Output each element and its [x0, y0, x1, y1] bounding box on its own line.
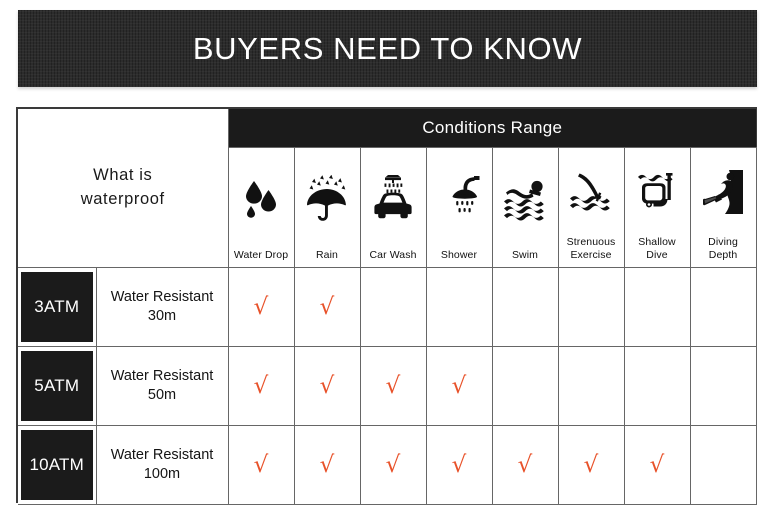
cell-3atm-car-wash [360, 268, 426, 347]
corner-label-line1: What is [93, 166, 152, 184]
column-label-car-wash: Car Wash [368, 247, 417, 262]
cell-3atm-shower [426, 268, 492, 347]
cell-10atm-swim: √ [492, 426, 558, 505]
rating-badge-cell-0: 3ATM [18, 268, 96, 347]
cell-3atm-rain: √ [294, 268, 360, 347]
rating-description-line2: 100m [144, 466, 180, 482]
cell-5atm-swim [492, 347, 558, 426]
cell-5atm-shower: √ [426, 347, 492, 426]
cell-3atm-swim [492, 268, 558, 347]
rating-description-line2: 50m [148, 387, 176, 403]
cell-10atm-shallow-dive: √ [624, 426, 690, 505]
check-icon: √ [452, 454, 467, 477]
column-label-diving-line1: Diving [708, 236, 738, 248]
cell-5atm-rain: √ [294, 347, 360, 426]
rating-description: Water Resistant 50m [103, 367, 222, 405]
column-header-strenuous-exercise: Strenuous Exercise [558, 148, 624, 268]
waterproof-rating-table: What is waterproof Conditions Range [16, 107, 757, 503]
check-icon: √ [320, 296, 335, 319]
cell-10atm-strenuous-exercise: √ [558, 426, 624, 505]
column-label-shallow-dive: Shallow Dive [637, 234, 676, 262]
page-root: BUYERS NEED TO KNOW What is [0, 0, 772, 517]
check-icon: √ [254, 454, 269, 477]
cell-10atm-rain: √ [294, 426, 360, 505]
check-icon: √ [452, 375, 467, 398]
diver-jump-icon [560, 152, 623, 234]
cell-5atm-water-drop: √ [228, 347, 294, 426]
shower-icon [428, 152, 491, 247]
cell-10atm-water-drop: √ [228, 426, 294, 505]
column-label-water-drop: Water Drop [233, 247, 289, 262]
rating-description-line1: Water Resistant [111, 447, 214, 463]
corner-label-line2: waterproof [81, 190, 165, 208]
column-header-swim: Swim [492, 148, 558, 268]
column-label-strenuous-line1: Strenuous [567, 236, 616, 248]
column-label-shower: Shower [440, 247, 478, 262]
corner-header-cell: What is waterproof [18, 109, 228, 268]
column-label-swim: Swim [511, 247, 539, 262]
column-label-rain: Rain [315, 247, 339, 262]
column-label-shallow-line1: Shallow [638, 236, 675, 248]
rating-badge: 5ATM [21, 351, 93, 421]
rating-description: Water Resistant 100m [103, 446, 222, 484]
rating-badge: 10ATM [21, 430, 93, 500]
cell-5atm-car-wash: √ [360, 347, 426, 426]
column-label-shallow-line2: Dive [646, 249, 667, 261]
table-header-band-row: What is waterproof Conditions Range [18, 109, 756, 148]
check-icon: √ [584, 454, 599, 477]
cell-10atm-diving-depth [690, 426, 756, 505]
rating-badge-cell-1: 5ATM [18, 347, 96, 426]
cell-5atm-strenuous-exercise [558, 347, 624, 426]
check-icon: √ [254, 296, 269, 319]
table-row: 10ATM Water Resistant 100m √ √ √ √ √ √ √ [18, 426, 756, 505]
check-icon: √ [518, 454, 533, 477]
column-label-diving-depth: Diving Depth [707, 234, 739, 262]
column-header-rain: Rain [294, 148, 360, 268]
title-banner: BUYERS NEED TO KNOW [18, 10, 757, 87]
water-drop-icon [230, 152, 293, 247]
banner-title: BUYERS NEED TO KNOW [193, 31, 582, 67]
table-row: 3ATM Water Resistant 30m √ √ [18, 268, 756, 347]
cell-5atm-diving-depth [690, 347, 756, 426]
column-label-strenuous-line2: Exercise [570, 249, 611, 261]
cell-5atm-shallow-dive [624, 347, 690, 426]
cell-3atm-shallow-dive [624, 268, 690, 347]
table-row: 5ATM Water Resistant 50m √ √ √ √ [18, 347, 756, 426]
conditions-range-header: Conditions Range [228, 109, 756, 148]
check-icon: √ [320, 454, 335, 477]
rating-badge-cell-2: 10ATM [18, 426, 96, 505]
rating-description-cell-1: Water Resistant 50m [96, 347, 228, 426]
cell-3atm-diving-depth [690, 268, 756, 347]
column-header-diving-depth: Diving Depth [690, 148, 756, 268]
cell-10atm-car-wash: √ [360, 426, 426, 505]
car-wash-icon [362, 152, 425, 247]
rating-description-line1: Water Resistant [111, 368, 214, 384]
column-label-swim-line1: Swim [512, 249, 538, 261]
snorkel-mask-icon [626, 152, 689, 234]
column-header-car-wash: Car Wash [360, 148, 426, 268]
check-icon: √ [650, 454, 665, 477]
check-icon: √ [254, 375, 269, 398]
column-header-shower: Shower [426, 148, 492, 268]
rating-badge: 3ATM [21, 272, 93, 342]
umbrella-rain-icon [296, 152, 359, 247]
rating-description-line2: 30m [148, 308, 176, 324]
rating-description-cell-2: Water Resistant 100m [96, 426, 228, 505]
column-label-diving-line2: Depth [709, 249, 738, 261]
cell-3atm-water-drop: √ [228, 268, 294, 347]
check-icon: √ [386, 375, 401, 398]
rating-description: Water Resistant 30m [103, 288, 222, 326]
corner-label: What is waterproof [18, 164, 228, 212]
column-header-shallow-dive: Shallow Dive [624, 148, 690, 268]
check-icon: √ [386, 454, 401, 477]
cell-3atm-strenuous-exercise [558, 268, 624, 347]
cell-10atm-shower: √ [426, 426, 492, 505]
column-header-water-drop: Water Drop [228, 148, 294, 268]
scuba-diver-cliff-icon [692, 152, 755, 234]
rating-description-cell-0: Water Resistant 30m [96, 268, 228, 347]
column-label-strenuous-exercise: Strenuous Exercise [566, 234, 617, 262]
rating-description-line1: Water Resistant [111, 289, 214, 305]
check-icon: √ [320, 375, 335, 398]
conditions-range-label: Conditions Range [422, 118, 562, 137]
swimmer-icon [494, 152, 557, 247]
